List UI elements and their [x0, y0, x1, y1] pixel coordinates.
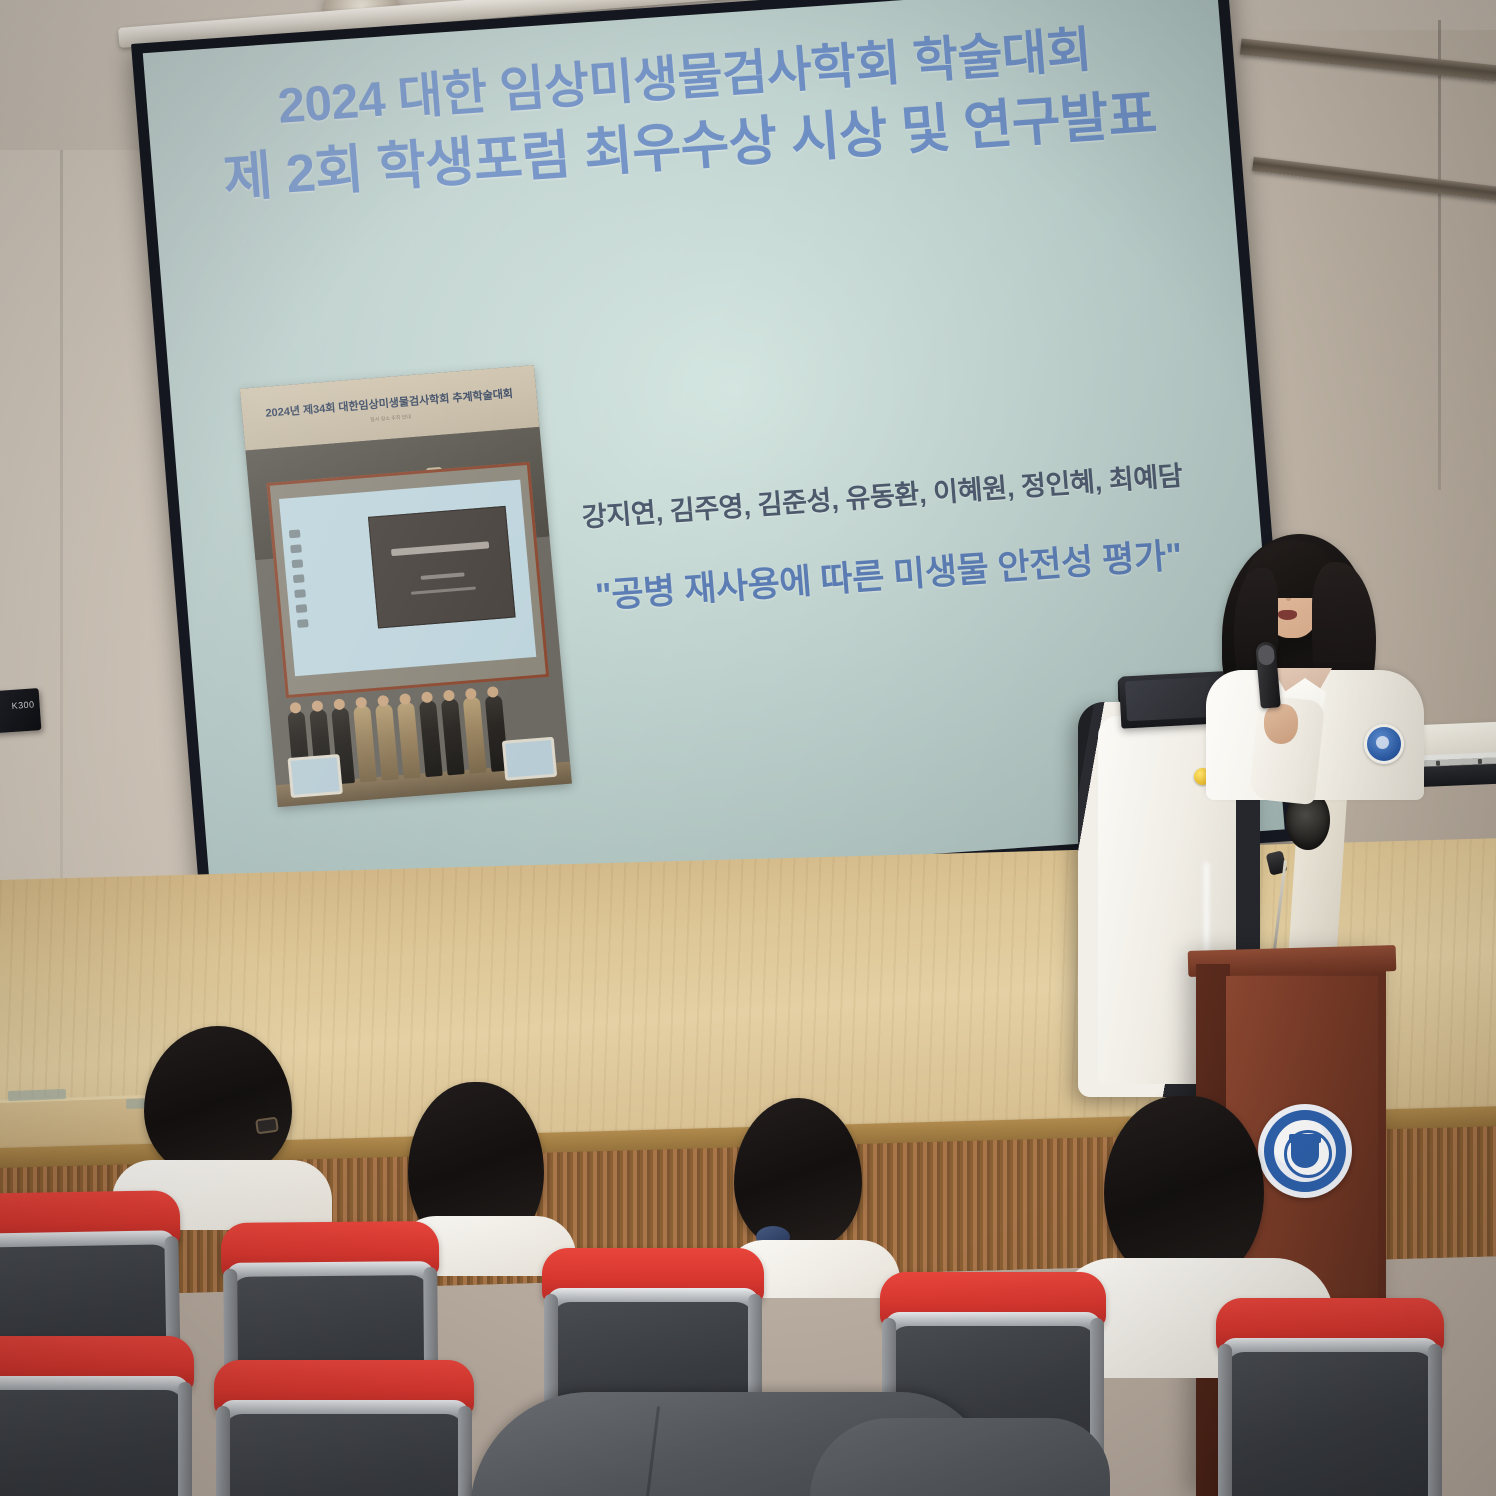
wall-seam: [60, 150, 63, 880]
wall-seam: [1438, 20, 1441, 490]
photo-screen-surface: [279, 480, 536, 677]
crest-glyph: [1291, 1142, 1319, 1168]
presenter: [1212, 528, 1402, 768]
auditorium-seat-foreground[interactable]: [214, 1360, 474, 1496]
photo-monitor-right: [502, 737, 557, 781]
slide-author-list: 강지연, 김주영, 김준성, 유동환, 이혜원, 정인혜, 최예담: [525, 450, 1239, 539]
wall-speaker: K300: [0, 688, 41, 734]
university-crest-icon: [1258, 1104, 1352, 1198]
photo-screen-sidebar: [286, 529, 312, 644]
photo-banner-subtitle: 일시 장소 주최 안내: [370, 413, 411, 423]
photo-projection-screen: [266, 462, 549, 698]
photo-slide-sub-line: [421, 572, 465, 579]
eyeglasses-icon: [255, 1117, 279, 1135]
presenter-mouth: [1278, 610, 1297, 620]
stage-tread-strip: [8, 1089, 66, 1101]
speaker-model-label: K300: [11, 699, 35, 711]
photo-monitor-left: [287, 754, 342, 798]
foreground-person-jacket-2: [810, 1418, 1110, 1496]
photo-scene: K300 2024 대한 임상미생물검사학회 학술대회 제 2회 학생포럼 최우…: [0, 0, 1496, 1496]
auditorium-seat-foreground[interactable]: [0, 1336, 194, 1496]
photo-slide-content: [368, 506, 515, 629]
presenter-hand: [1264, 704, 1298, 744]
slide-research-title: "공병 재사용에 따른 미생물 안전성 평가": [531, 523, 1246, 624]
presenter-coat-emblem-icon: [1364, 724, 1404, 764]
photo-slide-title-line: [391, 541, 489, 556]
photo-slide-org-line: [411, 587, 476, 595]
auditorium-seat[interactable]: [1216, 1298, 1444, 1496]
slide-title: 2024 대한 임상미생물검사학회 학술대회 제 2회 학생포럼 최우수상 시상…: [146, 12, 1230, 217]
slide-embedded-photo: 2024년 제34회 대한임상미생물검사학회 추계학술대회 일시 장소 주최 안…: [240, 365, 572, 807]
